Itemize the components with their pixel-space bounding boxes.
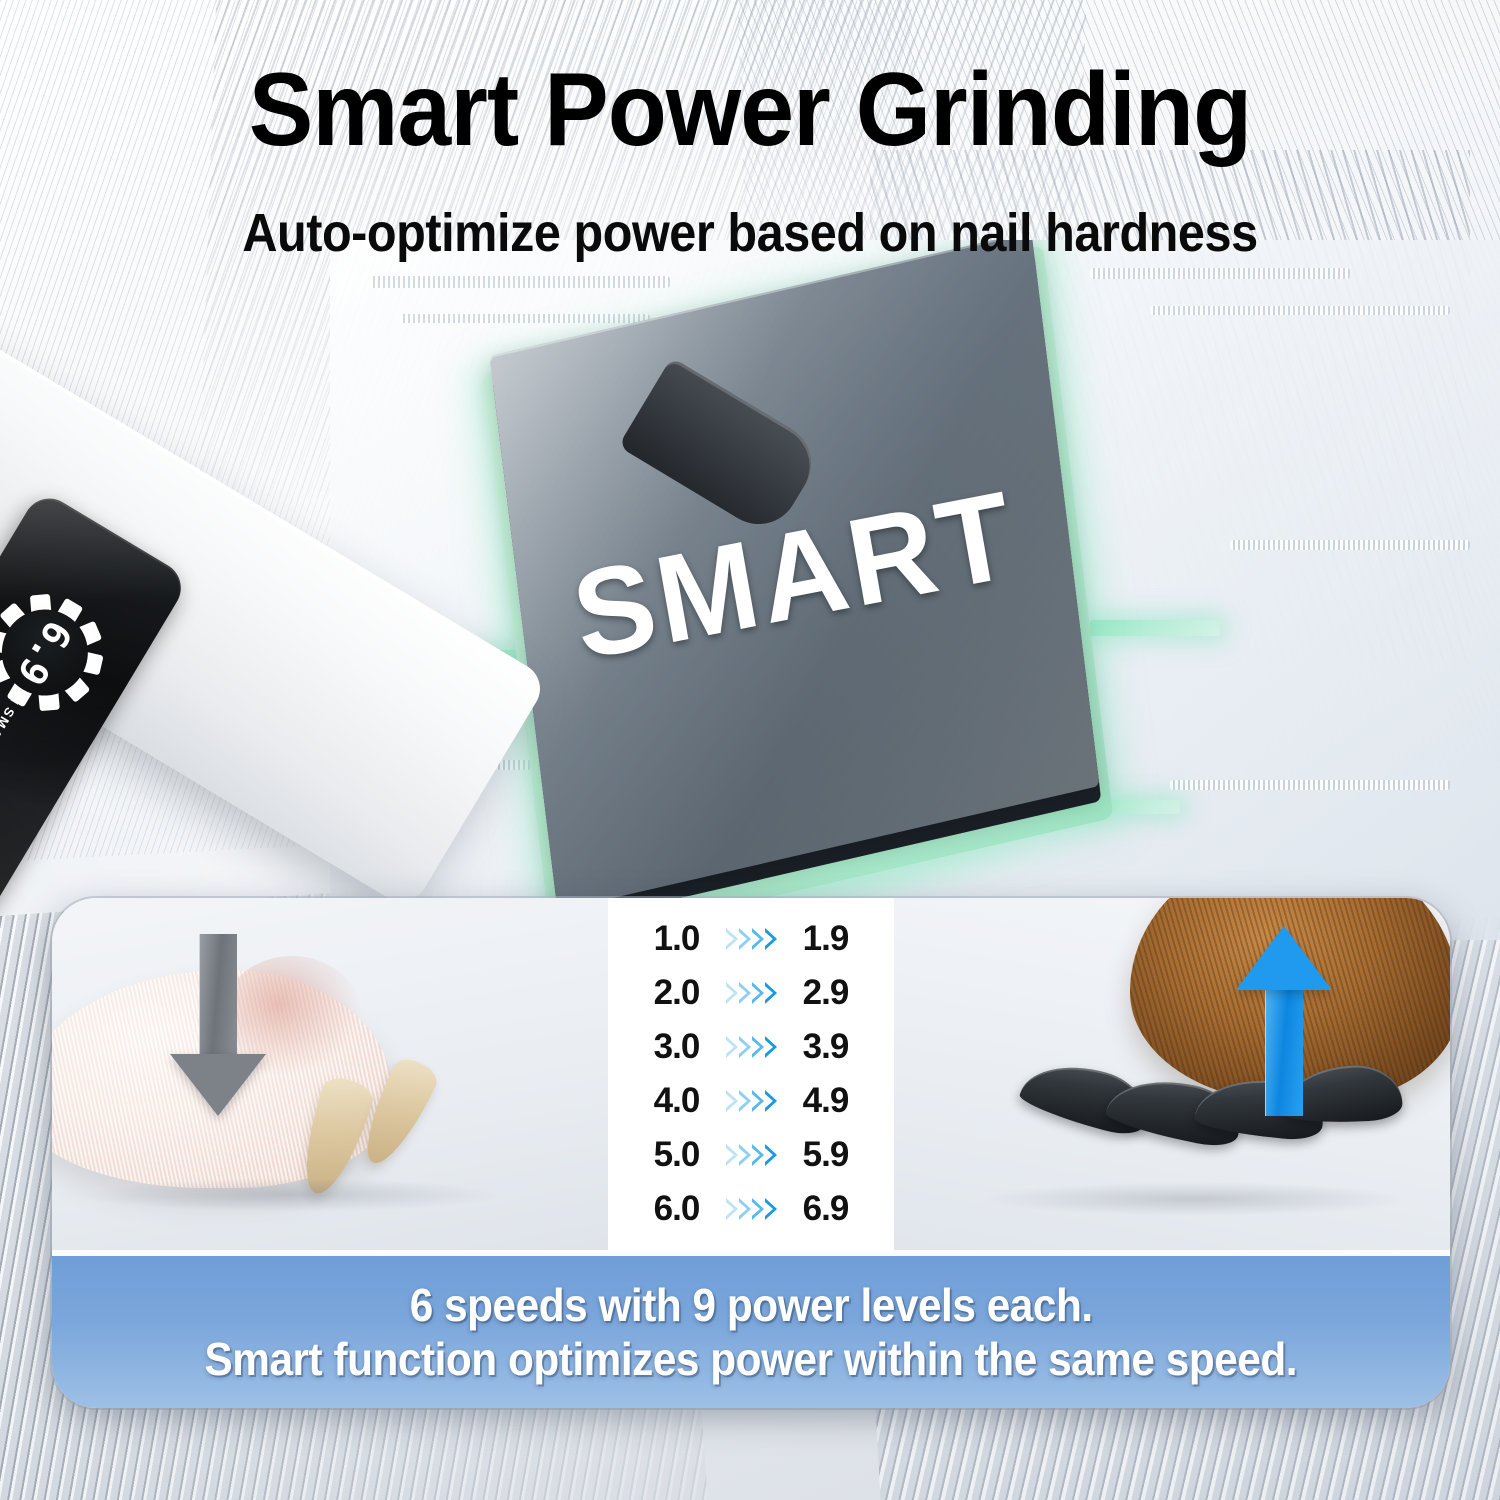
chevron-right-icon-group	[726, 982, 777, 1004]
speed-to: 4.9	[793, 1081, 859, 1121]
chevron-right-icon	[752, 982, 764, 1004]
chevron-right-icon	[752, 1036, 764, 1058]
chevron-right-icon	[739, 1198, 751, 1220]
arrow-down-icon	[170, 934, 266, 1116]
speed-to: 1.9	[793, 919, 859, 959]
chevron-right-icon	[739, 928, 751, 950]
dark-dog-paw-image	[1000, 898, 1450, 1222]
pcb-trace	[1150, 306, 1450, 315]
page-subtitle: Auto-optimize power based on nail hardne…	[75, 206, 1425, 260]
speed-from: 5.0	[644, 1135, 710, 1175]
feature-card: 1.0 1.9 2.0 2.9 3.0 3.9 4.0 4.9 5.0	[52, 898, 1450, 1408]
arrow-up-head	[1236, 926, 1332, 990]
chevron-right-icon	[765, 1036, 777, 1058]
arrow-up-icon	[1236, 926, 1332, 1116]
chevron-right-icon	[739, 1144, 751, 1166]
chevron-right-icon	[726, 1090, 738, 1112]
chevron-right-icon	[752, 1090, 764, 1112]
nail-grinder-device: 6.9 ◀ SMART ▶ 100 %	[0, 300, 700, 940]
banner-line-1: 6 speeds with 9 power levels each.	[410, 1281, 1093, 1329]
speed-from: 1.0	[644, 919, 710, 959]
chevron-right-icon	[739, 982, 751, 1004]
arrow-down-head	[170, 1054, 266, 1116]
table-row: 5.0 5.9	[608, 1128, 894, 1182]
chevron-right-icon	[739, 1090, 751, 1112]
chevron-right-icon	[752, 928, 764, 950]
chevron-right-icon	[726, 1198, 738, 1220]
paw-shadow	[980, 1182, 1410, 1216]
speed-from: 3.0	[644, 1027, 710, 1067]
page-title: Smart Power Grinding	[53, 58, 1448, 162]
pcb-trace	[370, 276, 670, 288]
chevron-right-icon-group	[726, 1036, 777, 1058]
card-top-row: 1.0 1.9 2.0 2.9 3.0 3.9 4.0 4.9 5.0	[52, 898, 1450, 1250]
arrow-down-stem	[199, 934, 237, 1054]
chevron-right-icon	[765, 1144, 777, 1166]
chevron-right-icon	[765, 982, 777, 1004]
speed-to: 5.9	[793, 1135, 859, 1175]
chevron-right-icon-group	[726, 928, 777, 950]
pcb-trace	[1230, 540, 1470, 550]
table-row: 4.0 4.9	[608, 1074, 894, 1128]
chevron-right-icon	[765, 1198, 777, 1220]
pcb-trace	[1170, 780, 1450, 790]
chevron-right-icon	[726, 928, 738, 950]
chevron-right-icon	[752, 1144, 764, 1166]
table-row: 2.0 2.9	[608, 966, 894, 1020]
chevron-right-icon	[726, 1144, 738, 1166]
speed-to: 3.9	[793, 1027, 859, 1067]
speed-from: 6.0	[644, 1189, 710, 1229]
chevron-right-icon-group	[726, 1090, 777, 1112]
chevron-right-icon	[752, 1198, 764, 1220]
chevron-right-icon	[739, 1036, 751, 1058]
pcb-trace	[1090, 268, 1350, 279]
chevron-right-icon	[765, 1090, 777, 1112]
arrow-up-stem	[1265, 990, 1303, 1116]
speed-to: 6.9	[793, 1189, 859, 1229]
speed-to: 2.9	[793, 973, 859, 1013]
chevron-right-icon	[726, 1036, 738, 1058]
banner-line-2: Smart function optimizes power within th…	[205, 1335, 1298, 1383]
table-row: 1.0 1.9	[608, 912, 894, 966]
paw-shadow	[82, 1178, 502, 1212]
chevron-right-icon-group	[726, 1198, 777, 1220]
table-row: 3.0 3.9	[608, 1020, 894, 1074]
chevron-right-icon	[726, 982, 738, 1004]
summary-banner: 6 speeds with 9 power levels each. Smart…	[52, 1256, 1450, 1408]
soft-nail-paw-panel	[52, 898, 608, 1250]
hard-nail-paw-panel	[894, 898, 1450, 1250]
table-row: 6.0 6.9	[608, 1182, 894, 1236]
speed-from: 2.0	[644, 973, 710, 1013]
chevron-right-icon	[765, 928, 777, 950]
speed-from: 4.0	[644, 1081, 710, 1121]
chevron-right-icon-group	[726, 1144, 777, 1166]
speed-range-table: 1.0 1.9 2.0 2.9 3.0 3.9 4.0 4.9 5.0	[608, 898, 894, 1250]
